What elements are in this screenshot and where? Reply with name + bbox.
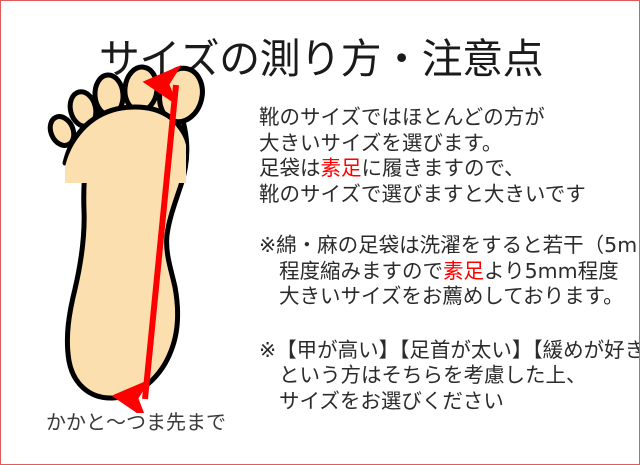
note-line: サイズをお選びください: [259, 389, 637, 415]
foot-sole-diagram: [29, 63, 244, 413]
note-paragraph-2: ※綿・麻の足袋は洗濯をすると若干（5mm） 程度縮みますので素足より5mm程度 …: [259, 233, 637, 310]
size-guide-panel: サイズの測り方・注意点: [0, 0, 640, 465]
note-text: 程度縮みますので: [279, 259, 443, 283]
note-paragraph-1: 靴のサイズではほとんどの方が 大きいサイズを選びます。 足袋は素足に履きますので…: [259, 105, 637, 207]
highlight-barefoot: 素足: [443, 259, 484, 283]
note-text: より5mm程度: [484, 259, 619, 283]
foot-caption: かかと～つま先まで: [21, 409, 251, 435]
foot-sole-illustration: [29, 63, 244, 413]
note-paragraph-3: ※【甲が高い】【足首が太い】【緩めが好き】 という方はそちらを考慮した上、 サイ…: [259, 338, 637, 415]
note-line: ※綿・麻の足袋は洗濯をすると若干（5mm）: [259, 233, 637, 259]
notes-text-column: 靴のサイズではほとんどの方が 大きいサイズを選びます。 足袋は素足に履きますので…: [259, 105, 637, 414]
note-line: 大きいサイズをお薦めしております。: [259, 284, 637, 310]
note-line: という方はそちらを考慮した上、: [259, 363, 637, 389]
note-text: に履きますので、: [362, 156, 525, 180]
note-line: ※【甲が高い】【足首が太い】【緩めが好き】: [259, 338, 637, 364]
note-text: 足袋は: [259, 156, 321, 180]
highlight-barefoot: 素足: [321, 156, 362, 180]
note-line: 程度縮みますので素足より5mm程度: [259, 259, 637, 285]
note-line: 足袋は素足に履きますので、: [259, 156, 637, 182]
note-line: 大きいサイズを選びます。: [259, 131, 637, 157]
note-line: 靴のサイズではほとんどの方が: [259, 105, 637, 131]
note-line: 靴のサイズで選びますと大きいです: [259, 182, 637, 208]
